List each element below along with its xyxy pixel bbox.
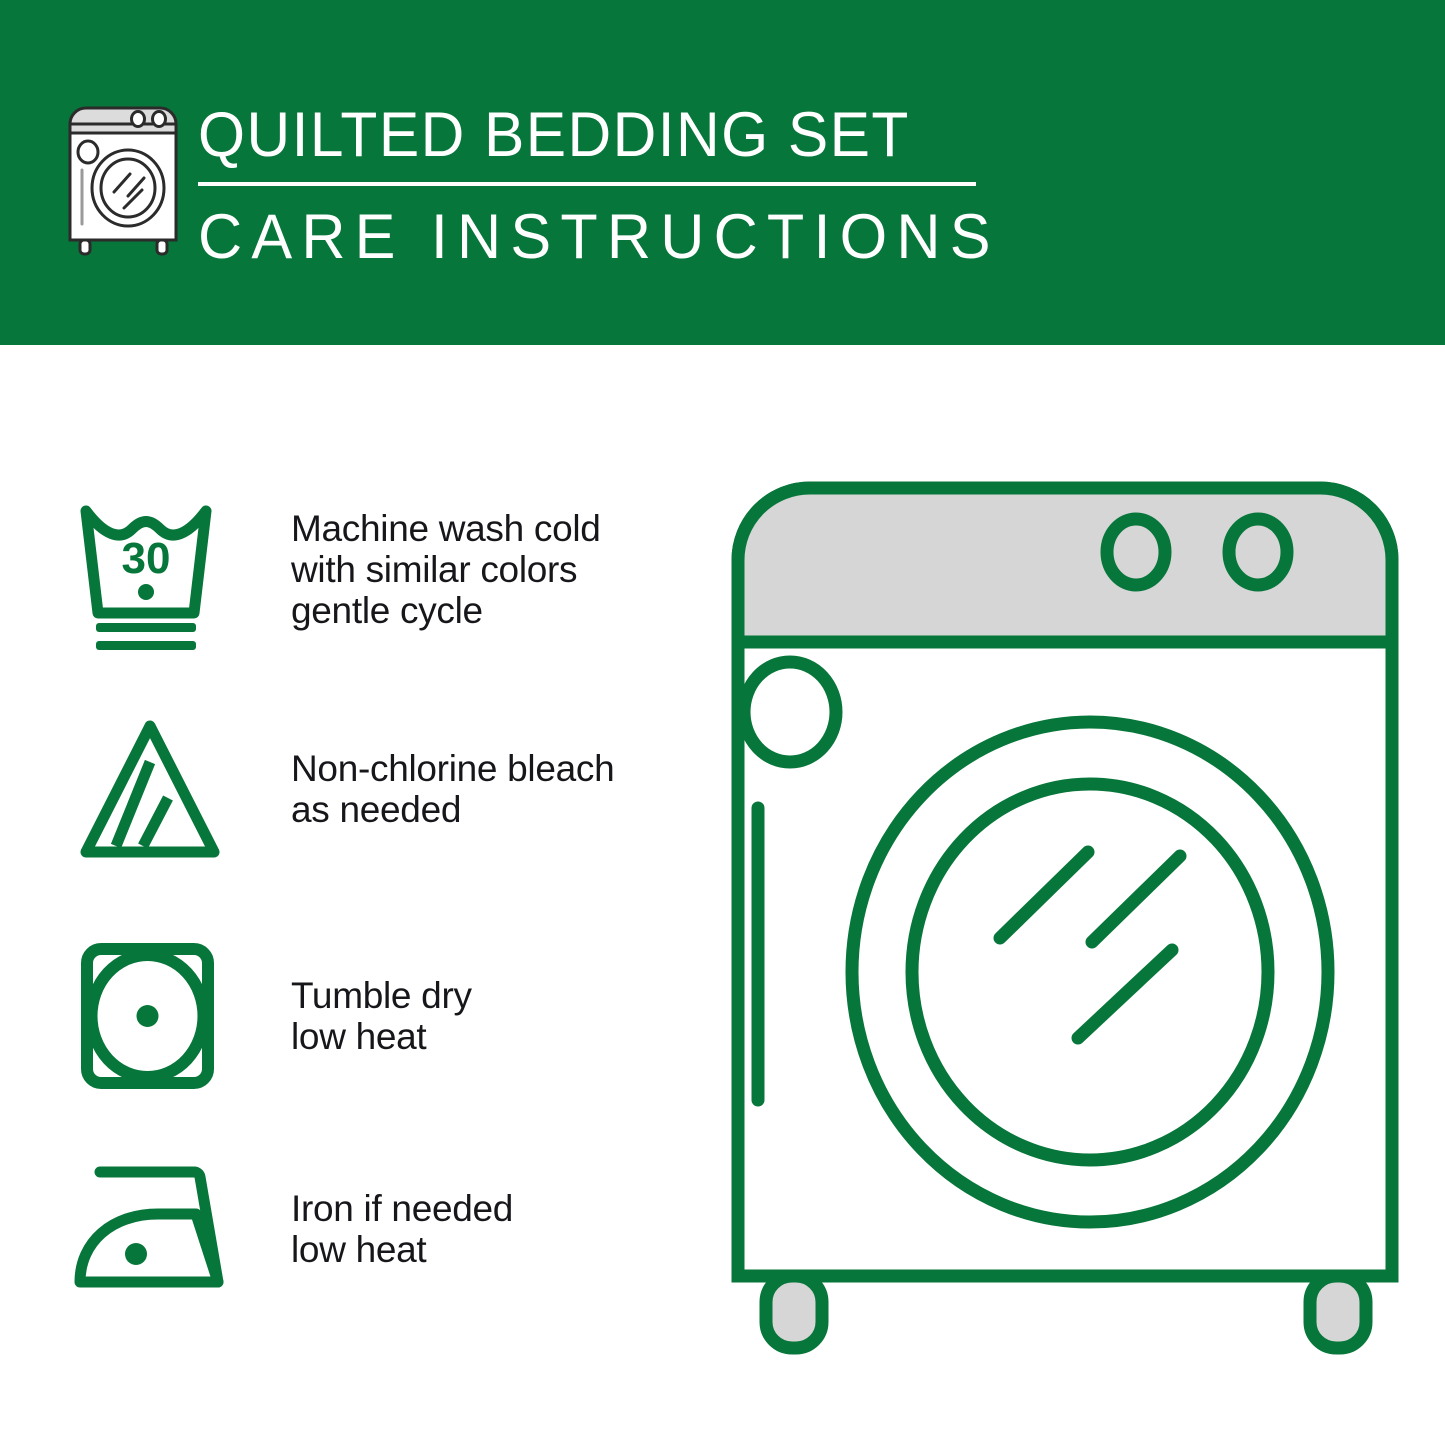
header-text-block: QUILTED BEDDING SET CARE INSTRUCTIONS (198, 96, 988, 274)
care-item-machine-wash: 30 Machine wash cold with similar colors… (0, 495, 700, 675)
care-item-label: Tumble dry low heat (291, 975, 472, 1057)
care-item-iron: Iron if needed low heat (0, 1150, 700, 1330)
washing-machine-illustration (710, 460, 1420, 1370)
header-divider (198, 182, 976, 186)
svg-text:30: 30 (122, 534, 171, 583)
care-item-label: Iron if needed low heat (291, 1188, 513, 1270)
non-chlorine-bleach-icon (72, 710, 232, 870)
tumble-dry-low-icon (72, 937, 232, 1097)
page-title: QUILTED BEDDING SET (198, 96, 956, 174)
care-item-tumble-dry: Tumble dry low heat (0, 937, 700, 1117)
header-banner: QUILTED BEDDING SET CARE INSTRUCTIONS (0, 0, 1445, 345)
machine-wash-30-icon: 30 (72, 495, 232, 655)
care-instruction-list: 30 Machine wash cold with similar colors… (0, 345, 700, 1445)
care-item-bleach: Non-chlorine bleach as needed (0, 710, 700, 890)
care-item-label: Machine wash cold with similar colors ge… (291, 508, 601, 631)
iron-low-heat-icon (72, 1150, 232, 1310)
care-instructions-page: QUILTED BEDDING SET CARE INSTRUCTIONS 30 (0, 0, 1445, 1445)
washing-machine-icon (62, 100, 192, 260)
page-subtitle: CARE INSTRUCTIONS (198, 200, 964, 274)
care-item-label: Non-chlorine bleach as needed (291, 748, 614, 830)
